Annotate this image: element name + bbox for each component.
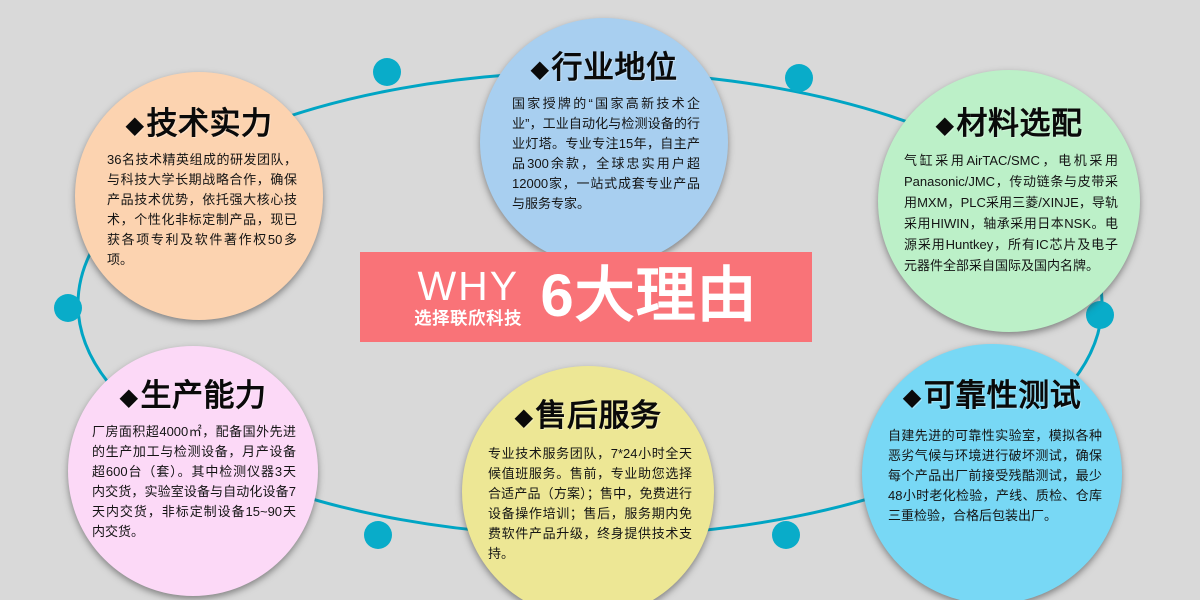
diamond-icon: ◆: [935, 111, 954, 140]
bubble-reliability-title: ◆可靠性测试: [862, 370, 1122, 415]
bubble-tech-title: ◆技术实力: [75, 98, 323, 143]
banner-headline: 6大理由: [540, 266, 757, 326]
bubble-material-title: ◆材料选配: [878, 98, 1140, 143]
diamond-icon: ◆: [119, 383, 138, 412]
bubble-reliability-body: 自建先进的可靠性实验室，模拟各种恶劣气候与环境进行破坏测试，确保每个产品出厂前接…: [888, 426, 1102, 526]
banner-sub-label: 选择联欣科技: [414, 310, 522, 327]
diamond-icon: ◆: [903, 383, 922, 412]
bubble-service-title-text: 售后服务: [536, 398, 662, 433]
bubble-tech: ◆技术实力 36名技术精英组成的研发团队，与科技大学长期战略合作，确保产品技术优…: [75, 72, 323, 320]
bubble-service-body: 专业技术服务团队，7*24小时全天候值班服务。售前，专业助您选择合适产品（方案）…: [488, 444, 692, 564]
bubble-material-title-text: 材料选配: [957, 106, 1083, 141]
diamond-icon: ◆: [514, 403, 533, 432]
bubble-material-body: 气缸采用AirTAC/SMC，电机采用Panasonic/JMC，传动链条与皮带…: [904, 150, 1118, 276]
bubble-industry: ◆行业地位 国家授牌的“国家高新技术企业”，工业自动化与检测设备的行业灯塔。专业…: [480, 18, 728, 266]
dot-left: [54, 294, 82, 322]
bubble-tech-body: 36名技术精英组成的研发团队，与科技大学长期战略合作，确保产品技术优势，依托强大…: [107, 150, 297, 270]
bubble-capacity-title-text: 生产能力: [141, 378, 267, 413]
infographic-canvas: ◆技术实力 36名技术精英组成的研发团队，与科技大学长期战略合作，确保产品技术优…: [0, 0, 1200, 600]
bubble-industry-title: ◆行业地位: [480, 42, 728, 87]
bubble-reliability-title-text: 可靠性测试: [924, 378, 1082, 413]
center-banner: WHY 选择联欣科技 6大理由: [360, 252, 812, 342]
bubble-industry-title-text: 行业地位: [552, 50, 678, 85]
bubble-reliability: ◆可靠性测试 自建先进的可靠性实验室，模拟各种恶劣气候与环境进行破坏测试，确保每…: [862, 344, 1122, 600]
bubble-service-title: ◆售后服务: [462, 390, 714, 435]
diamond-icon: ◆: [125, 111, 144, 140]
dot-bottom-left: [364, 521, 392, 549]
bubble-industry-body: 国家授牌的“国家高新技术企业”，工业自动化与检测设备的行业灯塔。专业专注15年，…: [512, 94, 700, 214]
banner-why-label: WHY: [417, 267, 519, 306]
bubble-capacity-body: 厂房面积超4000㎡，配备国外先进的生产加工与检测设备，月产设备超600台（套）…: [92, 422, 296, 542]
dot-top-left: [373, 58, 401, 86]
bubble-tech-title-text: 技术实力: [147, 106, 273, 141]
bubble-service: ◆售后服务 专业技术服务团队，7*24小时全天候值班服务。售前，专业助您选择合适…: [462, 366, 714, 600]
dot-right: [1086, 301, 1114, 329]
banner-why-block: WHY 选择联欣科技: [414, 267, 522, 326]
dot-top-right: [785, 64, 813, 92]
diamond-icon: ◆: [530, 55, 549, 84]
bubble-material: ◆材料选配 气缸采用AirTAC/SMC，电机采用Panasonic/JMC，传…: [878, 70, 1140, 332]
bubble-capacity-title: ◆生产能力: [68, 370, 318, 415]
dot-bottom-right: [772, 521, 800, 549]
bubble-capacity: ◆生产能力 厂房面积超4000㎡，配备国外先进的生产加工与检测设备，月产设备超6…: [68, 346, 318, 596]
